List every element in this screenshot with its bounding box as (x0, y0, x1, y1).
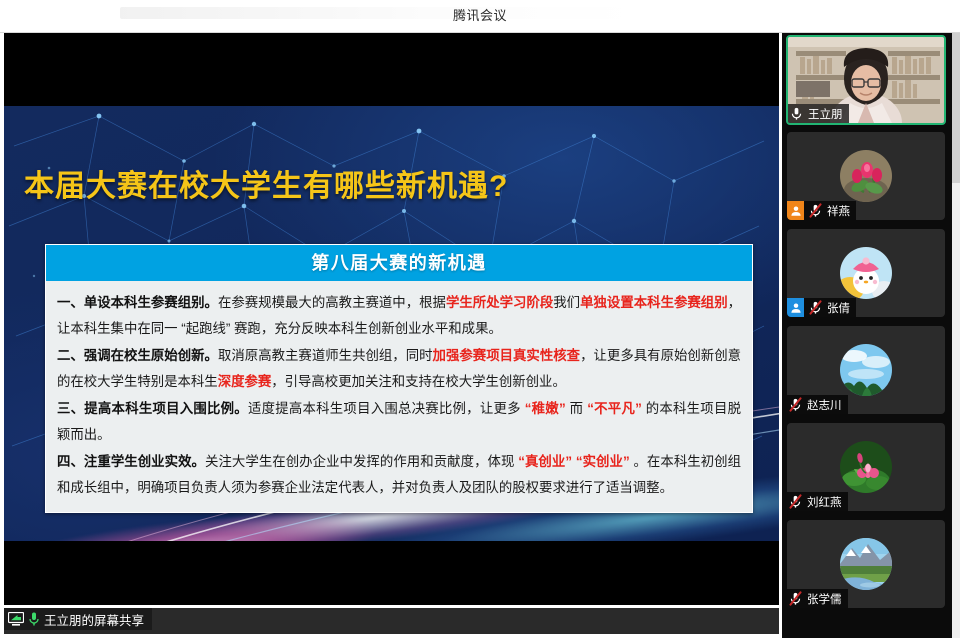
paragraph-text: 取消原高教主赛道师生共创组，同时 (218, 348, 433, 363)
microphone-muted-icon (807, 298, 824, 317)
microphone-icon (788, 104, 805, 123)
slide-paragraph: 二、强调在校生原始创新。取消原高教主赛道师生共创组，同时加强参赛项目真实性核查，… (57, 343, 741, 395)
participant-tile[interactable]: 刘红燕 (787, 423, 945, 511)
highlighted-text: “稚嫩” (525, 401, 566, 416)
tencent-meeting-window: 腾讯会议 (0, 0, 960, 638)
participant-name-bar: 赵志川 (787, 395, 848, 414)
microphone-icon (28, 611, 40, 627)
participant-tile[interactable]: 张倩 (787, 229, 945, 317)
participant-name-bar: 王立朋 (788, 104, 849, 123)
slide-paragraph: 一、单设本科生参赛组别。在参赛规模最大的高教主赛道中，根据学生所处学习阶段我们单… (57, 290, 741, 342)
participant-tile[interactable]: 张学儒 (787, 520, 945, 608)
highlighted-text: 学生所处学习阶段 (446, 295, 553, 310)
paragraph-lead: 一、单设本科生参赛组别。 (57, 295, 218, 310)
slide-paragraph: 三、提高本科生项目入围比例。适度提高本科生项目入围总决赛比例，让更多 “稚嫩” … (57, 396, 741, 448)
screen-share-pill: 王立朋的屏幕共享 (4, 608, 152, 630)
paragraph-text: 适度提高本科生项目入围总决赛比例，让更多 (248, 401, 525, 416)
microphone-muted-icon (787, 395, 804, 414)
paragraph-text: 我们 (553, 295, 580, 310)
participant-name-bar: 张倩 (787, 298, 856, 317)
person-icon (787, 298, 804, 317)
participant-name-bar: 刘红燕 (787, 492, 848, 511)
participant-tile[interactable]: 赵志川 (787, 326, 945, 414)
screen-share-icon (8, 612, 24, 626)
highlighted-text: “真创业” (518, 454, 572, 469)
paragraph-lead: 四、注重学生创业实效。 (57, 454, 205, 469)
microphone-muted-icon (787, 589, 804, 608)
participant-name: 张学儒 (807, 591, 842, 607)
window-title-bar: 腾讯会议 (0, 0, 960, 33)
microphone-muted-icon (787, 492, 804, 511)
microphone-muted-icon (807, 201, 824, 220)
highlighted-text: “不平凡” (587, 401, 642, 416)
shared-screen-stage[interactable]: 本届大赛在校大学生有哪些新机遇? 第八届大赛的新机遇 一、单设本科生参赛组别。在… (4, 33, 779, 605)
screen-share-label: 王立朋的屏幕共享 (44, 610, 144, 629)
screen-share-banner: 王立朋的屏幕共享 (4, 608, 779, 634)
avatar (840, 150, 892, 202)
avatar (840, 344, 892, 396)
paragraph-text: 在参赛规模最大的高教主赛道中，根据 (218, 295, 446, 310)
highlighted-text: “实创业” (576, 454, 630, 469)
avatar (840, 538, 892, 590)
person-icon (787, 201, 804, 220)
paragraph-lead: 二、强调在校生原始创新。 (57, 348, 218, 363)
content-box-body: 一、单设本科生参赛组别。在参赛规模最大的高教主赛道中，根据学生所处学习阶段我们单… (46, 281, 752, 512)
paragraph-text: 关注大学生在创办企业中发挥的作用和贡献度，体现 (205, 454, 518, 469)
participant-tile[interactable]: 王立朋 (786, 35, 946, 125)
presentation-slide: 本届大赛在校大学生有哪些新机遇? 第八届大赛的新机遇 一、单设本科生参赛组别。在… (4, 106, 779, 541)
participant-name: 刘红燕 (807, 494, 842, 510)
participant-name: 张倩 (827, 300, 850, 316)
slide-content-box: 第八届大赛的新机遇 一、单设本科生参赛组别。在参赛规模最大的高教主赛道中，根据学… (45, 244, 753, 513)
participant-name-bar: 张学儒 (787, 589, 848, 608)
slide-paragraph: 四、注重学生创业实效。关注大学生在创办企业中发挥的作用和贡献度，体现 “真创业”… (57, 449, 741, 501)
participant-rail-scrollbar-thumb[interactable] (952, 33, 960, 183)
avatar (840, 441, 892, 493)
paragraph-text: ，引导高校更加关注和支持在校大学生创新创业。 (271, 374, 566, 389)
participant-name: 赵志川 (807, 397, 842, 413)
paragraph-text: 而 (566, 401, 588, 416)
participant-tile[interactable]: 祥燕 (787, 132, 945, 220)
highlighted-text: 深度参赛 (218, 374, 272, 389)
participant-rail[interactable]: 王立朋 祥燕 张倩 (782, 33, 952, 638)
content-box-header: 第八届大赛的新机遇 (46, 245, 752, 281)
highlighted-text: 单独设置本科生参赛组别 (580, 295, 728, 310)
highlighted-text: 加强参赛项目真实性核查 (433, 348, 581, 363)
participant-name: 祥燕 (827, 203, 850, 219)
participant-name: 王立朋 (808, 106, 843, 122)
paragraph-lead: 三、提高本科生项目入围比例。 (57, 401, 248, 416)
participant-name-bar: 祥燕 (787, 201, 856, 220)
app-title: 腾讯会议 (0, 0, 960, 32)
slide-title: 本届大赛在校大学生有哪些新机遇? (24, 161, 508, 205)
avatar (840, 247, 892, 299)
